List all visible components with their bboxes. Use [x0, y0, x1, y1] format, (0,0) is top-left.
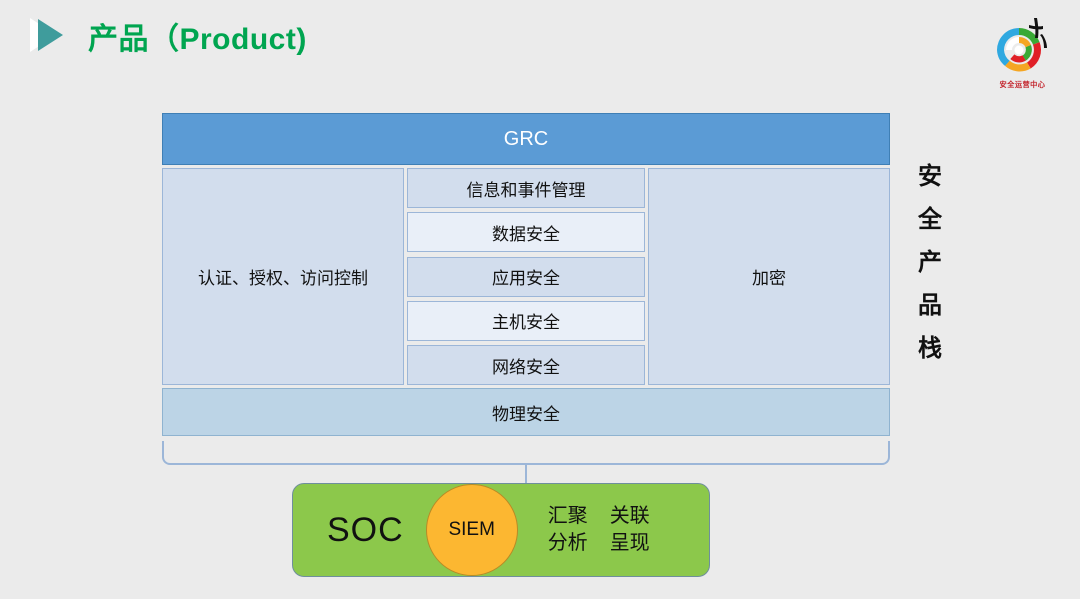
- stack-layer-data-security: 数据安全: [407, 212, 645, 252]
- stack-layer-siem: 信息和事件管理: [407, 168, 645, 208]
- stack-middle-row: 认证、授权、访问控制 信息和事件管理 数据安全 应用安全 主机安全 网络安全 加…: [162, 168, 890, 385]
- logo-caption: 安全运营中心: [999, 80, 1045, 90]
- soc-band: SOC SIEM 汇聚 分析 关联 呈现: [292, 483, 710, 577]
- side-label-char-3: 产: [912, 241, 948, 284]
- stack-side-label: 安 全 产 品 栈: [912, 155, 948, 370]
- side-label-char-4: 品: [912, 284, 948, 327]
- side-label-char-5: 栈: [912, 327, 948, 370]
- page-title: 产品（Product): [88, 14, 307, 58]
- security-product-stack: GRC 认证、授权、访问控制 信息和事件管理 数据安全 应用安全 主机安全 网络…: [162, 113, 890, 436]
- soc-keyword-col-2: 关联 呈现: [610, 503, 650, 557]
- soc-keyword-2-top: 关联: [610, 503, 650, 530]
- stack-layer-network-security: 网络安全: [407, 345, 645, 385]
- stack-layer-application-security: 应用安全: [407, 257, 645, 297]
- side-label-char-1: 安: [912, 155, 948, 198]
- soc-keyword-2-bottom: 呈现: [610, 530, 650, 557]
- stack-bracket: [162, 441, 890, 465]
- soc-keyword-1-bottom: 分析: [548, 530, 588, 557]
- play-triangle-icon: [30, 16, 74, 56]
- brand-logo: 安全运营中心: [982, 12, 1062, 107]
- stack-bracket-stem: [525, 463, 527, 483]
- soc-label: SOC: [327, 511, 404, 550]
- side-label-char-2: 全: [912, 198, 948, 241]
- siem-circle: SIEM: [426, 484, 518, 576]
- soc-keyword-col-1: 汇聚 分析: [548, 503, 588, 557]
- stack-left-column: 认证、授权、访问控制: [162, 168, 404, 385]
- soc-keyword-1-top: 汇聚: [548, 503, 588, 530]
- stack-right-column: 加密: [648, 168, 890, 385]
- stack-layer-host-security: 主机安全: [407, 301, 645, 341]
- slide-title: 产品（Product): [30, 14, 307, 58]
- jiu-swirl-logo-icon: [989, 12, 1055, 78]
- stack-center-column: 信息和事件管理 数据安全 应用安全 主机安全 网络安全: [407, 168, 645, 385]
- stack-physical-security-bar: 物理安全: [162, 388, 890, 436]
- stack-grc-bar: GRC: [162, 113, 890, 165]
- soc-keywords: 汇聚 分析 关联 呈现: [548, 503, 650, 557]
